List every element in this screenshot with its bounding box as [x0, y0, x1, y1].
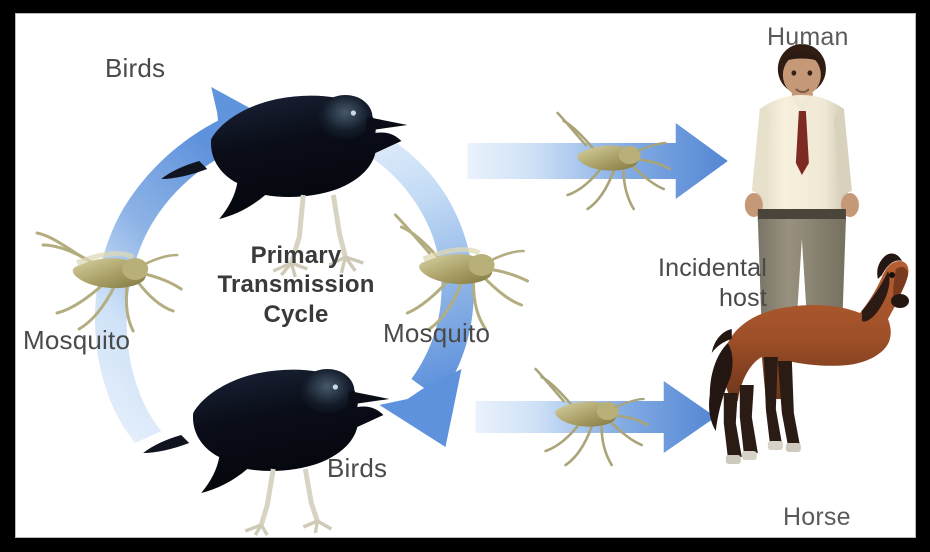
bird-bottom	[143, 369, 389, 535]
mosquito-to-horse	[536, 369, 648, 465]
label-incidental-host: Incidental host	[607, 253, 767, 313]
mosquito-left	[37, 233, 181, 331]
label-human: Human	[767, 23, 849, 53]
label-birds-bottom: Birds	[327, 453, 387, 484]
organisms-layer	[15, 13, 916, 538]
mosquito-center	[395, 215, 527, 329]
label-birds-top: Birds	[105, 53, 165, 84]
label-mosquito-center: Mosquito	[383, 318, 490, 349]
mosquito-to-human	[558, 113, 670, 209]
figure-frame: Birds Birds Mosquito Mosquito Primary Tr…	[0, 0, 930, 552]
figure-canvas: Birds Birds Mosquito Mosquito Primary Tr…	[15, 13, 916, 538]
primary-transmission-cycle-title: Primary Transmission Cycle	[193, 241, 399, 329]
label-mosquito-left: Mosquito	[23, 325, 130, 356]
label-horse: Horse	[783, 503, 851, 533]
